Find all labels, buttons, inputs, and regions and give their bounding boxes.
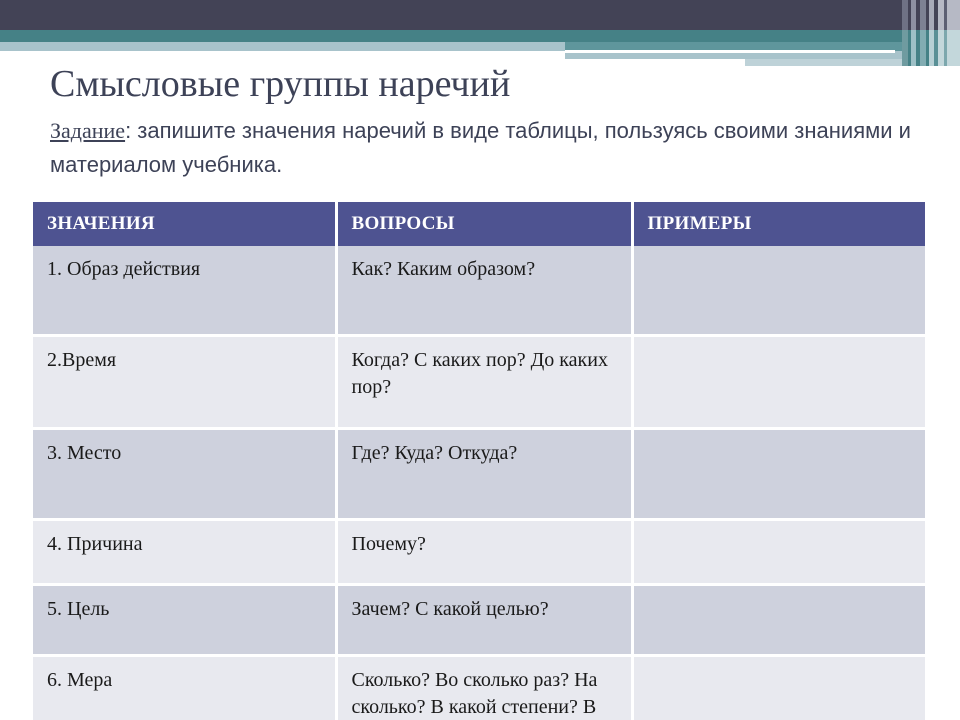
header-accent-white-gap [565, 59, 745, 66]
cell-meaning: 2.Время [33, 336, 336, 429]
header-band-dark [0, 0, 960, 30]
table-row: 4. Причина Почему? [33, 520, 925, 585]
slide-title: Смысловые группы наречий [50, 62, 510, 106]
cell-example[interactable] [632, 520, 925, 585]
table-header-examples: ПРИМЕРЫ [632, 202, 925, 246]
table-row: 1. Образ действия Как? Каким образом? [33, 246, 925, 336]
table-header-questions: ВОПРОСЫ [336, 202, 632, 246]
task-separator: : [125, 118, 137, 143]
adverb-meaning-table: ЗНАЧЕНИЯ ВОПРОСЫ ПРИМЕРЫ 1. Образ действ… [33, 202, 925, 720]
cell-example[interactable] [632, 429, 925, 520]
cell-question: Зачем? С какой целью? [336, 585, 632, 656]
cell-example[interactable] [632, 656, 925, 720]
header-band-teal [0, 30, 960, 42]
table-header-meanings: ЗНАЧЕНИЯ [33, 202, 336, 246]
table-row: 2.Время Когда? С каких пор? До каких пор… [33, 336, 925, 429]
task-description: Задание: запишите значения наречий в вид… [50, 114, 930, 182]
cell-meaning: 5. Цель [33, 585, 336, 656]
cell-example[interactable] [632, 246, 925, 336]
cell-meaning: 6. Мера [33, 656, 336, 720]
cell-meaning: 3. Место [33, 429, 336, 520]
cell-question: Сколько? Во сколько раз? На сколько? В к… [336, 656, 632, 720]
cell-question: Как? Каким образом? [336, 246, 632, 336]
table-row: 6. Мера Сколько? Во сколько раз? На скол… [33, 656, 925, 720]
cell-meaning: 4. Причина [33, 520, 336, 585]
cell-question: Где? Куда? Откуда? [336, 429, 632, 520]
cell-question: Почему? [336, 520, 632, 585]
slide-canvas: Смысловые группы наречий Задание: запиши… [0, 0, 960, 720]
table-row: 3. Место Где? Куда? Откуда? [33, 429, 925, 520]
cell-example[interactable] [632, 585, 925, 656]
cell-meaning: 1. Образ действия [33, 246, 336, 336]
cell-question: Когда? С каких пор? До каких пор? [336, 336, 632, 429]
table-header-row: ЗНАЧЕНИЯ ВОПРОСЫ ПРИМЕРЫ [33, 202, 925, 246]
header-vertical-stripes-lower [900, 30, 960, 66]
task-label: Задание [50, 118, 125, 143]
table-row: 5. Цель Зачем? С какой целью? [33, 585, 925, 656]
header-accent-white-line [565, 50, 895, 53]
vertical-stripe-lower [947, 30, 960, 66]
cell-example[interactable] [632, 336, 925, 429]
task-body: запишите значения наречий в виде таблицы… [50, 118, 911, 177]
